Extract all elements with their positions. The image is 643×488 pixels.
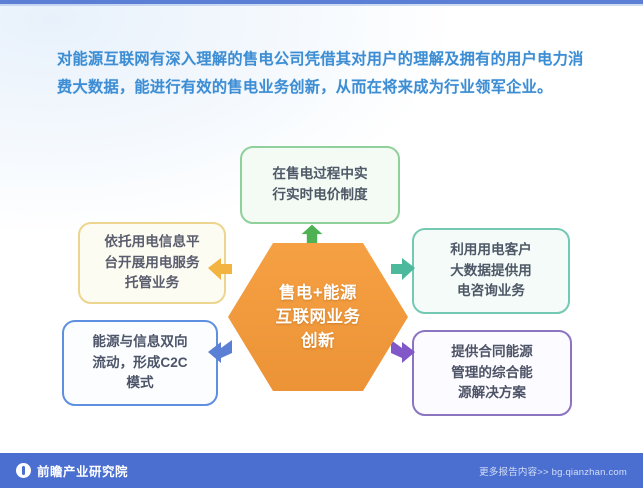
arrow-left-icon (205, 255, 235, 285)
node-box-left-top: 依托用电信息平 台开展用电服务 托管业务 (78, 222, 226, 304)
brand: 前瞻产业研究院 (16, 461, 128, 480)
node-box-right-top: 利用用电客户 大数据提供用 电咨询业务 (412, 228, 570, 314)
node-box-right-bottom: 提供合同能源 管理的综合能 源解决方案 (412, 330, 572, 416)
slide-canvas: 对能源互联网有深入理解的售电公司凭借其对用户的理解及拥有的用户电力消费大数据，能… (0, 0, 643, 488)
arrow-left-down-icon (205, 336, 235, 366)
top-accent-bar-secondary (0, 4, 643, 6)
footer-link[interactable]: 更多报告内容>> bg.qianzhan.com (479, 464, 627, 478)
node-box-left-bottom: 能源与信息双向 流动，形成C2C 模式 (62, 320, 218, 406)
node-label-left-bottom: 能源与信息双向 流动，形成C2C 模式 (92, 332, 187, 394)
node-label-left-top: 依托用电信息平 台开展用电服务 托管业务 (104, 232, 199, 294)
node-label-right-top: 利用用电客户 大数据提供用 电咨询业务 (450, 240, 532, 302)
brand-name: 前瞻产业研究院 (37, 461, 128, 480)
footer-bar: 前瞻产业研究院 更多报告内容>> bg.qianzhan.com (0, 453, 643, 488)
center-hexagon: 售电+能源 互联网业务 创新 (228, 243, 408, 391)
center-hexagon-label: 售电+能源 互联网业务 创新 (276, 281, 361, 353)
headline-text: 对能源互联网有深入理解的售电公司凭借其对用户的理解及拥有的用户电力消费大数据，能… (57, 46, 597, 101)
node-label-top: 在售电过程中实 行实时电价制度 (272, 164, 367, 205)
arrow-right-icon (388, 255, 418, 285)
qianzhan-logo-icon (16, 463, 31, 478)
node-box-top: 在售电过程中实 行实时电价制度 (240, 146, 400, 224)
node-label-right-bottom: 提供合同能源 管理的综合能 源解决方案 (451, 342, 533, 404)
